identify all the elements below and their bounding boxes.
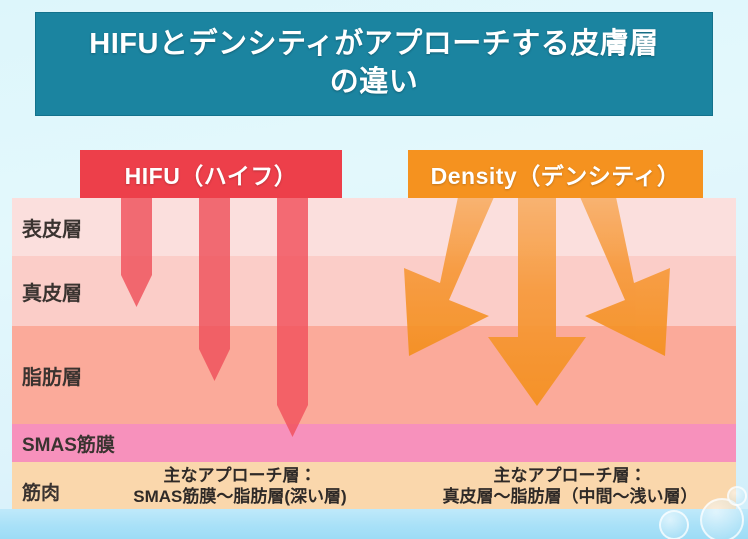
approach-caption-density: 主なアプローチ層： 真皮層〜脂肪層（中間〜浅い層） xyxy=(410,466,730,507)
treatment-label-hifu-text: HIFU（ハイフ） xyxy=(125,157,298,191)
skin-layer-dermis-label: 真皮層 xyxy=(12,277,82,306)
approach-caption-density-line2: 真皮層〜脂肪層（中間〜浅い層） xyxy=(410,487,730,508)
approach-caption-density-line1: 主なアプローチ層： xyxy=(410,466,730,487)
decorative-bubble-small xyxy=(727,486,747,506)
approach-caption-hifu-line2: SMAS筋膜〜脂肪層(深い層) xyxy=(90,487,390,508)
skin-layer-epidermis: 表皮層 xyxy=(12,198,736,256)
title-banner: HIFUとデンシティがアプローチする皮膚層 の違い xyxy=(35,12,713,116)
page-title: HIFUとデンシティがアプローチする皮膚層 の違い xyxy=(75,26,672,101)
title-line-2: の違い xyxy=(330,66,419,98)
approach-caption-hifu: 主なアプローチ層： SMAS筋膜〜脂肪層(深い層) xyxy=(90,466,390,507)
skin-layer-fat-label: 脂肪層 xyxy=(12,361,82,390)
skin-layer-smas-label: SMAS筋膜 xyxy=(12,430,115,457)
title-line-1: HIFUとデンシティがアプローチする皮膚層 xyxy=(89,28,658,60)
decorative-bubble-medium xyxy=(659,510,689,539)
skin-layer-fat: 脂肪層 xyxy=(12,326,736,424)
approach-caption-hifu-line1: 主なアプローチ層： xyxy=(90,466,390,487)
skin-layer-epidermis-label: 表皮層 xyxy=(12,213,82,242)
treatment-label-density-text: Density（デンシティ） xyxy=(431,157,681,191)
decorative-water-band xyxy=(0,509,748,539)
treatment-label-hifu: HIFU（ハイフ） xyxy=(80,150,342,198)
infographic-root: HIFUとデンシティがアプローチする皮膚層 の違い HIFU（ハイフ） Dens… xyxy=(0,0,748,539)
treatment-label-density: Density（デンシティ） xyxy=(408,150,703,198)
skin-cross-section: 表皮層 真皮層 脂肪層 SMAS筋膜 筋肉 主なアプローチ層： SMAS筋膜〜脂… xyxy=(12,198,736,520)
skin-layer-smas: SMAS筋膜 xyxy=(12,424,736,462)
skin-layer-muscle-label: 筋肉 xyxy=(12,478,60,505)
skin-layer-dermis: 真皮層 xyxy=(12,256,736,326)
